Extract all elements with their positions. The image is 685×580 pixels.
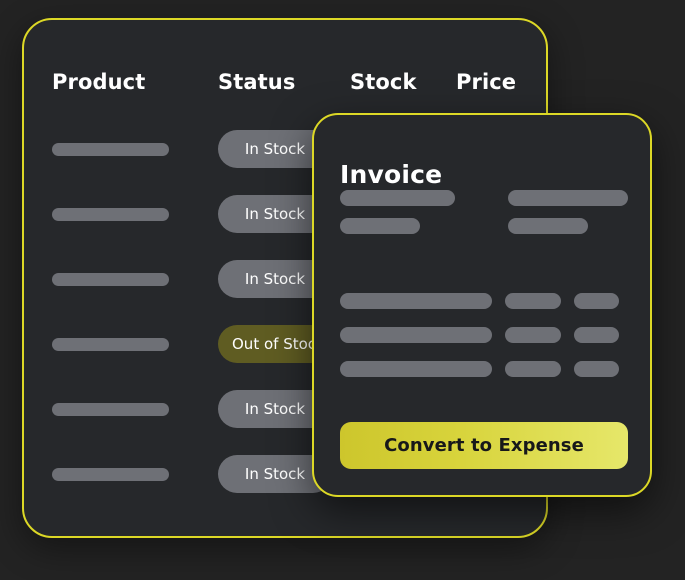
product-name-placeholder — [52, 143, 169, 156]
invoice-meta-row — [340, 190, 628, 206]
line-item-description-placeholder — [340, 361, 492, 377]
column-header-price: Price — [456, 68, 516, 96]
line-item-qty-placeholder — [505, 327, 561, 343]
invoice-meta-left — [340, 218, 460, 234]
line-item-amount-placeholder — [574, 327, 619, 343]
line-item-description-placeholder — [340, 327, 492, 343]
column-header-product: Product — [52, 68, 145, 96]
product-name-placeholder — [52, 208, 169, 221]
list-item — [340, 327, 628, 343]
invoice-card: Invoice — [312, 113, 652, 497]
page-title: Invoice — [340, 160, 442, 190]
convert-to-expense-button[interactable]: Convert to Expense — [340, 422, 628, 469]
meta-placeholder — [508, 218, 588, 234]
invoice-line-items — [340, 293, 628, 395]
line-item-description-placeholder — [340, 293, 492, 309]
invoice-meta-row — [340, 218, 628, 234]
inventory-table-header: Product Status Stock Price — [24, 68, 546, 100]
line-item-qty-placeholder — [505, 293, 561, 309]
list-item — [340, 361, 628, 377]
list-item — [340, 293, 628, 309]
meta-placeholder — [340, 190, 455, 206]
product-name-placeholder — [52, 468, 169, 481]
invoice-meta-right — [508, 190, 628, 206]
invoice-meta-right — [508, 218, 628, 234]
column-header-status: Status — [218, 68, 295, 96]
invoice-meta-grid — [340, 190, 628, 246]
product-name-placeholder — [52, 338, 169, 351]
invoice-meta-left — [340, 190, 460, 206]
screenshot-stage: Product Status Stock Price In Stock In S… — [0, 0, 685, 580]
product-name-placeholder — [52, 273, 169, 286]
meta-placeholder — [340, 218, 420, 234]
product-name-placeholder — [52, 403, 169, 416]
line-item-amount-placeholder — [574, 361, 619, 377]
column-header-stock: Stock — [350, 68, 417, 96]
line-item-qty-placeholder — [505, 361, 561, 377]
meta-placeholder — [508, 190, 628, 206]
line-item-amount-placeholder — [574, 293, 619, 309]
